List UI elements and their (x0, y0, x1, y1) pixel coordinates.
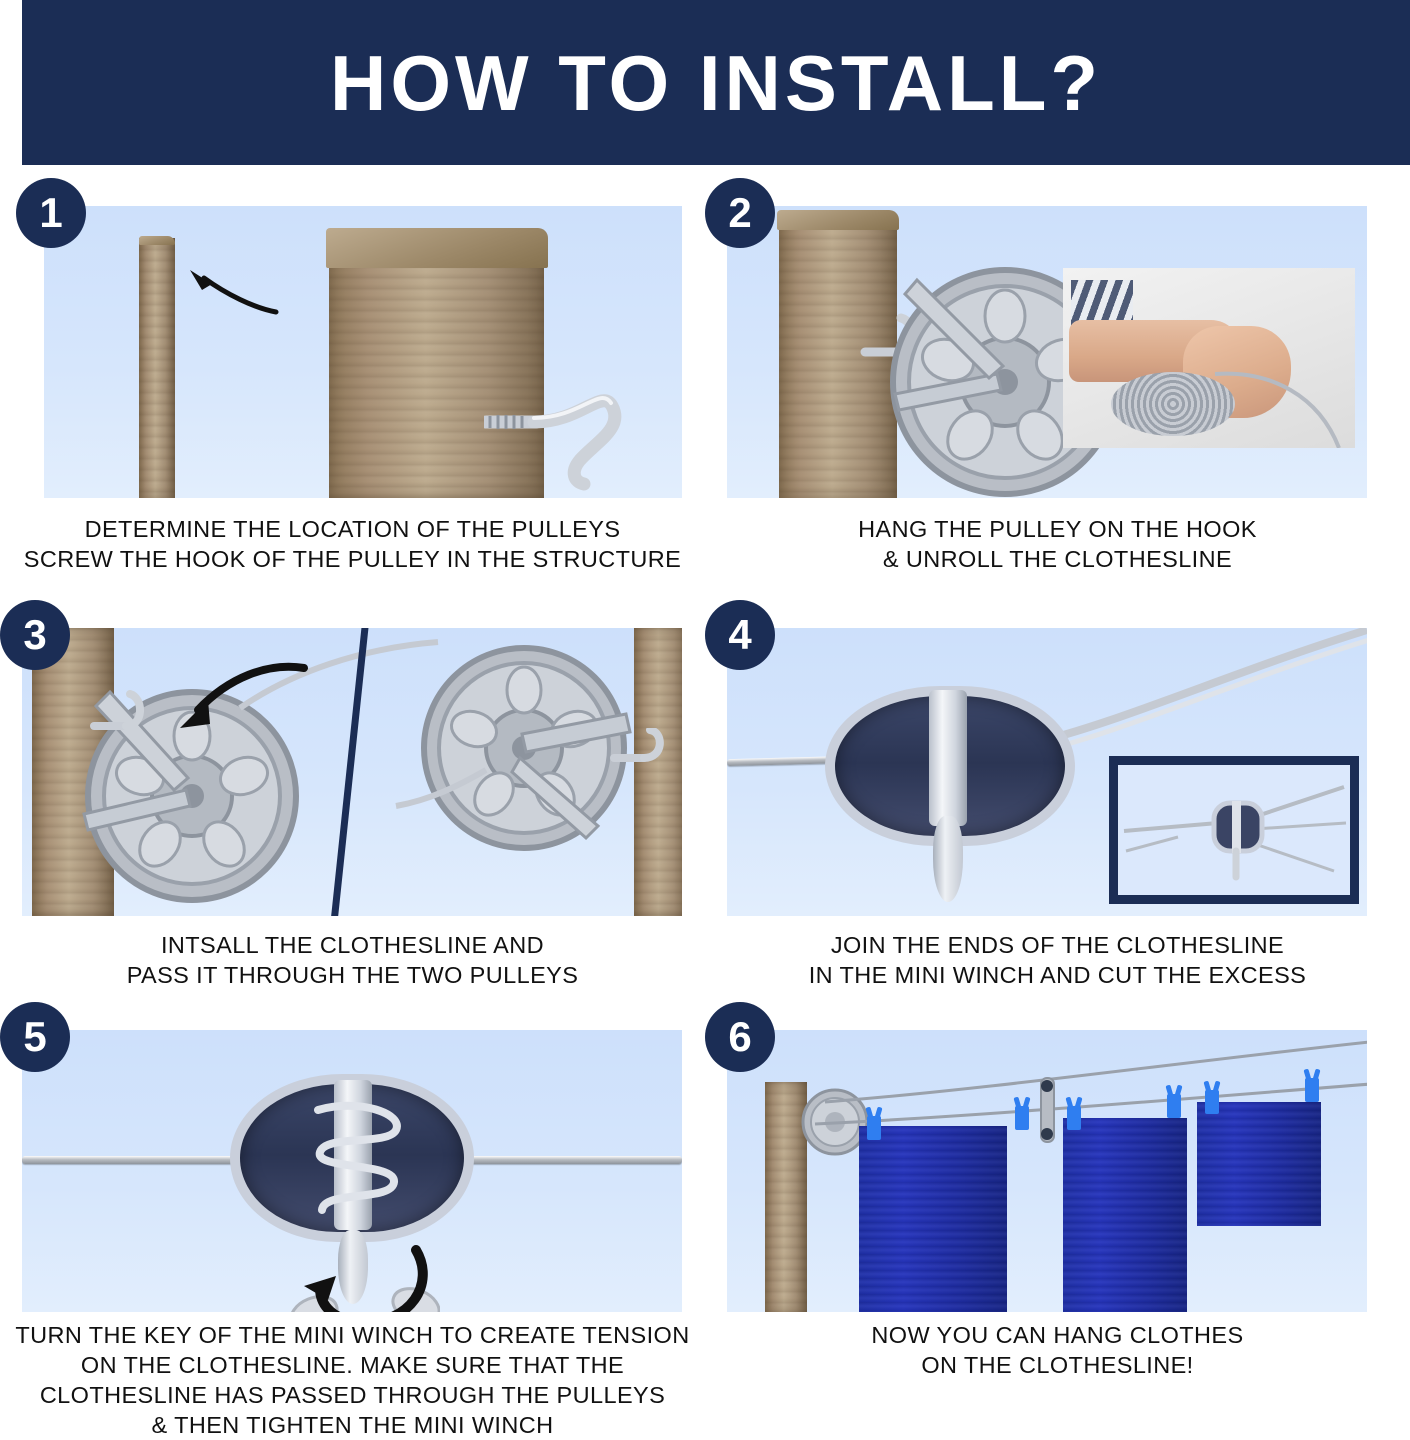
direction-arrow-icon (132, 656, 312, 746)
clothespin-icon (1015, 1106, 1029, 1130)
step-card-3: 3 INTSALL THE CLOTHESLINE AND PASS IT TH… (0, 600, 705, 920)
step-2-photo (727, 206, 1367, 498)
page-title: HOW TO INSTALL? (330, 44, 1102, 122)
step-1-photo (44, 206, 682, 498)
step-badge-1: 1 (16, 178, 86, 248)
line-connector-icon (1033, 1074, 1063, 1148)
clothespin-icon (1067, 1106, 1081, 1130)
steps-row-2: 3 INTSALL THE CLOTHESLINE AND PASS IT TH… (0, 600, 1410, 920)
step-3-photo (22, 628, 682, 916)
wound-wire (300, 1086, 420, 1236)
clothesline-cable-right (394, 746, 514, 816)
rotate-arrow-icon (298, 1242, 448, 1312)
post-thin-top-icon (139, 236, 175, 245)
step-card-4: 4 JOIN THE ENDS OF THE CLOTHESLINE IN TH… (705, 600, 1410, 920)
step-badge-2: 2 (705, 178, 775, 248)
winch-spindle-icon (929, 690, 967, 826)
screw-hook-icon (484, 384, 644, 494)
wire-coil-inset-photo (1063, 268, 1355, 448)
steps-row-1: 1 DETERMINE THE LOCATION OF THE PULLEYS … (0, 178, 1410, 508)
hanging-garment (859, 1126, 1007, 1312)
hook-right-icon (610, 728, 680, 788)
step-badge-6: 6 (705, 1002, 775, 1072)
step-caption-6: NOW YOU CAN HANG CLOTHES ON THE CLOTHESL… (705, 1320, 1410, 1380)
pointer-arrow-icon (164, 264, 284, 324)
step-badge-4: 4 (705, 600, 775, 670)
step-card-1: 1 DETERMINE THE LOCATION OF THE PULLEYS … (0, 178, 705, 508)
winch-closeup-inset (1109, 756, 1359, 904)
step-card-6: 6 NOW YOU CAN HANG CLOTHES ON THE CLOTHE… (705, 1002, 1410, 1310)
step-5-photo (22, 1030, 682, 1312)
post-main-top-icon (326, 228, 548, 268)
clothespin-icon (1167, 1094, 1181, 1118)
header-banner: HOW TO INSTALL? (22, 0, 1410, 165)
step-caption-5: TURN THE KEY OF THE MINI WINCH TO CREATE… (0, 1320, 705, 1440)
clothespin-icon (867, 1116, 881, 1140)
step-card-2: 2 HANG THE PULLEY ON THE HOOK & UNROLL T… (705, 178, 1410, 508)
steps-grid: 1 DETERMINE THE LOCATION OF THE PULLEYS … (0, 178, 1410, 1310)
step-caption-3: INTSALL THE CLOTHESLINE AND PASS IT THRO… (0, 930, 705, 990)
step-card-5: 5 TURN THE KEY OF THE MINI WINCH TO CREA… (0, 1002, 705, 1310)
step-caption-2: HANG THE PULLEY ON THE HOOK & UNROLL THE… (705, 514, 1410, 574)
post-top-icon (777, 210, 899, 230)
step-badge-3: 3 (0, 600, 70, 670)
step-4-photo (727, 628, 1367, 916)
clothesline-right (1027, 628, 1367, 768)
step-badge-5: 5 (0, 1002, 70, 1072)
step-caption-4: JOIN THE ENDS OF THE CLOTHESLINE IN THE … (705, 930, 1410, 990)
hanging-garment (1063, 1118, 1187, 1312)
step-6-photo (727, 1030, 1367, 1312)
clothespin-icon (1205, 1090, 1219, 1114)
step-caption-1: DETERMINE THE LOCATION OF THE PULLEYS SC… (0, 514, 705, 574)
hanging-garment (1197, 1102, 1321, 1226)
winch-key-icon (933, 816, 963, 902)
clothespin-icon (1305, 1078, 1319, 1102)
steps-row-3: 5 TURN THE KEY OF THE MINI WINCH TO CREA… (0, 1002, 1410, 1310)
